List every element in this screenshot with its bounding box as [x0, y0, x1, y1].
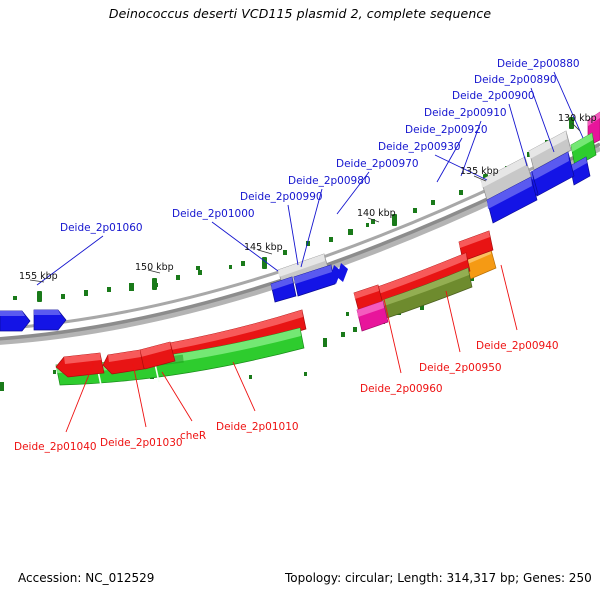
gene-label-deide-2p00880[interactable]: Deide_2p00880 — [497, 58, 580, 70]
gene-label-deide-2p00970[interactable]: Deide_2p00970 — [336, 158, 419, 170]
gene-label-deide-2p00930[interactable]: Deide_2p00930 — [378, 141, 461, 153]
genome-stats-text: Topology: circular; Length: 314,317 bp; … — [285, 571, 592, 585]
gene-label-deide-2p00890[interactable]: Deide_2p00890 — [474, 74, 557, 86]
gene-label-deide-2p00950[interactable]: Deide_2p00950 — [419, 362, 502, 374]
gene-label-deide-2p01040[interactable]: Deide_2p01040 — [14, 441, 97, 453]
ruler-tick-140-kbp: 140 kbp — [357, 208, 396, 219]
gene-label-deide-2p01010[interactable]: Deide_2p01010 — [216, 421, 299, 433]
gene-label-deide-2p00900[interactable]: Deide_2p00900 — [452, 90, 535, 102]
gene-label-deide-2p00960[interactable]: Deide_2p00960 — [360, 383, 443, 395]
accession-text: Accession: NC_012529 — [18, 571, 154, 585]
ruler-tick-150-kbp: 150 kbp — [135, 262, 174, 273]
gene-label-deide-2p00980[interactable]: Deide_2p00980 — [288, 175, 371, 187]
ruler-tick-135-kbp: 135 kbp — [460, 166, 499, 177]
gene-label-deide-2p01000[interactable]: Deide_2p01000 — [172, 208, 255, 220]
gene-label-deide-2p00920[interactable]: Deide_2p00920 — [405, 124, 488, 136]
gene-label-deide-2p01030[interactable]: Deide_2p01030 — [100, 437, 183, 449]
ruler-tick-130-kbp: 130 kbp — [558, 113, 597, 124]
ruler-tick-145-kbp: 145 kbp — [244, 242, 283, 253]
genome-viewer: Deinococcus deserti VCD115 plasmid 2, co… — [0, 0, 600, 600]
ruler-tick-155-kbp: 155 kbp — [19, 271, 58, 282]
gene-label-deide-2p01060[interactable]: Deide_2p01060 — [60, 222, 143, 234]
gene-label-cher[interactable]: cheR — [180, 430, 206, 442]
gene-label-deide-2p00940[interactable]: Deide_2p00940 — [476, 340, 559, 352]
gene-feature-group-right — [481, 112, 600, 223]
gene-label-deide-2p00990[interactable]: Deide_2p00990 — [240, 191, 323, 203]
gene-label-deide-2p00910[interactable]: Deide_2p00910 — [424, 107, 507, 119]
